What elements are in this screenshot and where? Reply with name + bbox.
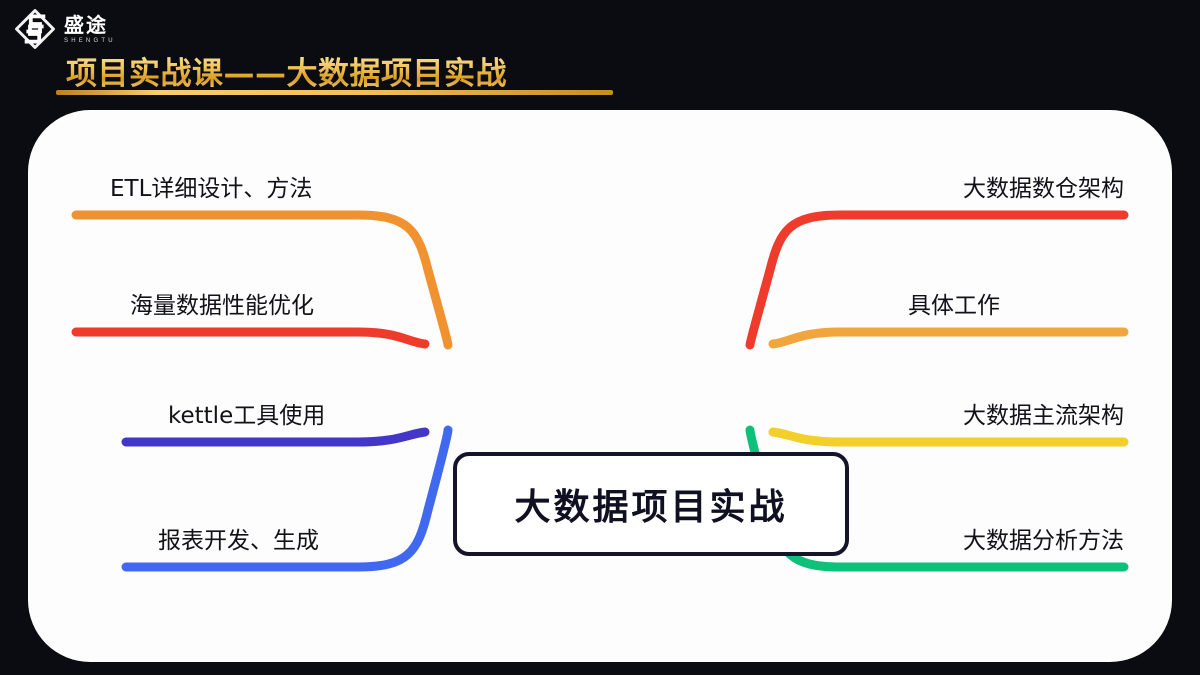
edge-data-warehouse-architecture (750, 215, 1124, 345)
brand-name-cn: 盛途 (64, 15, 116, 35)
title-underline-rule (56, 90, 613, 95)
branch-label-specific-work[interactable]: 具体工作 (908, 295, 1000, 318)
branch-label-data-warehouse-architecture[interactable]: 大数据数仓架构 (963, 178, 1124, 201)
edge-massive-data-optimization (76, 332, 425, 344)
branch-label-data-analysis-methods[interactable]: 大数据分析方法 (963, 530, 1124, 553)
shengtu-interlocking-s-logo-icon (14, 8, 56, 50)
central-node-label: 大数据项目实战 (514, 478, 787, 530)
mindmap-card: ETL详细设计、方法 海量数据性能优化 kettle工具使用 报表开发、生成 大… (28, 110, 1172, 662)
branch-label-mainstream-architecture[interactable]: 大数据主流架构 (963, 405, 1124, 428)
branch-label-massive-data-optimization[interactable]: 海量数据性能优化 (130, 295, 314, 318)
brand-wordmark: 盛途 SHENGTU (64, 15, 116, 44)
edge-mainstream-architecture (773, 432, 1124, 442)
branch-label-report-development[interactable]: 报表开发、生成 (158, 530, 319, 553)
page-title: 项目实战课——大数据项目实战 (66, 48, 507, 93)
brand-name-en: SHENGTU (64, 38, 116, 44)
branch-label-etl-design[interactable]: ETL详细设计、方法 (110, 178, 312, 201)
brand-logo: 盛途 SHENGTU (14, 6, 144, 52)
slide-canvas: 盛途 SHENGTU 项目实战课——大数据项目实战 (0, 0, 1200, 675)
central-node[interactable]: 大数据项目实战 (453, 452, 849, 556)
edge-specific-work (773, 332, 1124, 344)
edge-kettle-tool (126, 432, 425, 442)
edge-etl-design (76, 215, 448, 345)
branch-label-kettle-tool[interactable]: kettle工具使用 (168, 405, 325, 428)
